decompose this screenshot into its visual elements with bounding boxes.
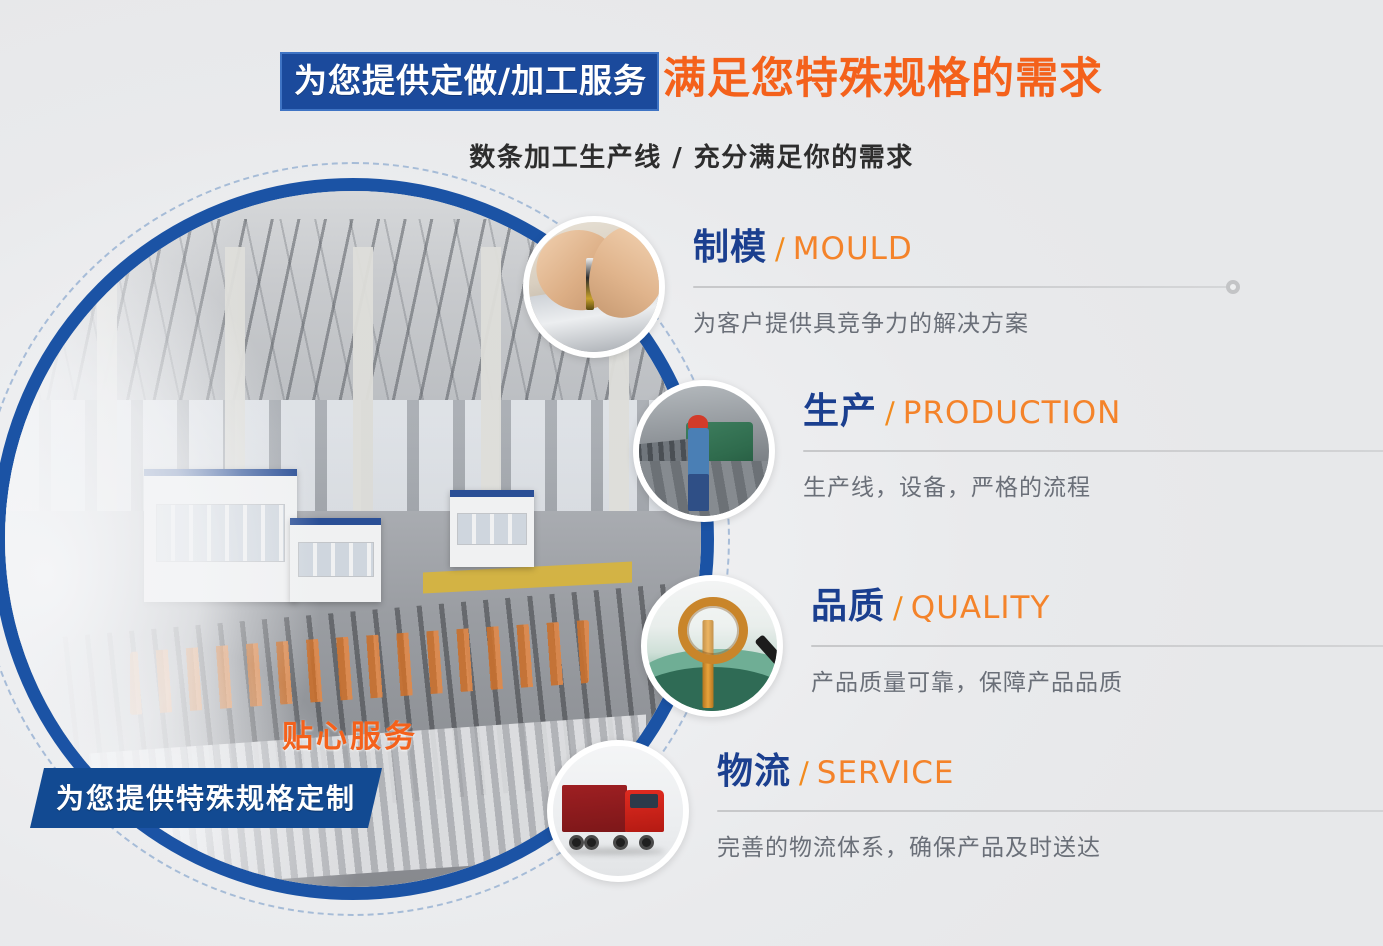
feature-title-en: SERVICE (817, 755, 955, 791)
feature-item-quality[interactable]: 品质/QUALITY 产品质量可靠，保障产品品质 (641, 575, 1383, 717)
feature-text: 制模/MOULD 为客户提供具竞争力的解决方案 (693, 216, 1233, 338)
feature-item-production[interactable]: 生产/PRODUCTION 生产线，设备，严格的流程 (633, 380, 1383, 522)
feature-description: 为客户提供具竞争力的解决方案 (693, 304, 1233, 338)
feature-title-cn: 制模 (693, 227, 767, 268)
feature-title-cn: 品质 (811, 586, 885, 627)
feature-item-service[interactable]: 物流/SERVICE 完善的物流体系，确保产品及时送达 (547, 740, 1383, 882)
header-badge: 为您提供定做/加工服务 (280, 52, 659, 111)
feature-title-en: QUALITY (911, 590, 1051, 626)
headline-row: 为您提供定做/加工服务 满足您特殊规格的需求 (0, 0, 1383, 111)
feature-divider (811, 645, 1383, 647)
feature-item-mould[interactable]: 制模/MOULD 为客户提供具竞争力的解决方案 (523, 216, 1233, 358)
feature-title-separator: / (885, 396, 895, 430)
service-truck-icon (547, 740, 689, 882)
feature-divider (717, 810, 1383, 812)
promo-banner: 为您提供定做/加工服务 满足您特殊规格的需求 数条加工生产线 / 充分满足你的需… (0, 0, 1383, 946)
feature-title-en: PRODUCTION (903, 395, 1122, 431)
feature-description: 生产线，设备，严格的流程 (803, 468, 1383, 502)
header-headline: 满足您特殊规格的需求 (663, 58, 1103, 101)
feature-title: 生产/PRODUCTION (803, 394, 1383, 430)
production-worker-icon (633, 380, 775, 522)
feature-title: 品质/QUALITY (811, 589, 1383, 625)
feature-text: 物流/SERVICE 完善的物流体系，确保产品及时送达 (717, 740, 1383, 862)
feature-title-separator: / (775, 232, 785, 266)
mould-hand-scriber-icon (523, 216, 665, 358)
photo-caption: 贴心服务 为您提供特殊规格定制 (160, 711, 540, 828)
feature-title-cn: 生产 (803, 391, 877, 432)
caption-banner: 为您提供特殊规格定制 (30, 768, 382, 828)
feature-title-separator: / (893, 591, 903, 625)
header: 为您提供定做/加工服务 满足您特殊规格的需求 数条加工生产线 / 充分满足你的需… (0, 0, 1383, 174)
header-subtitle: 数条加工生产线 / 充分满足你的需求 (0, 137, 1383, 174)
feature-text: 品质/QUALITY 产品质量可靠，保障产品品质 (811, 575, 1383, 697)
feature-title: 制模/MOULD (693, 230, 1233, 266)
quality-magnifier-icon (641, 575, 783, 717)
feature-title-cn: 物流 (717, 751, 791, 792)
feature-title: 物流/SERVICE (717, 754, 1383, 790)
caption-heading: 贴心服务 (160, 711, 540, 756)
feature-text: 生产/PRODUCTION 生产线，设备，严格的流程 (803, 380, 1383, 502)
feature-divider (693, 286, 1233, 288)
feature-description: 完善的物流体系，确保产品及时送达 (717, 828, 1383, 862)
feature-description: 产品质量可靠，保障产品品质 (811, 663, 1383, 697)
feature-title-separator: / (799, 756, 809, 790)
feature-divider (803, 450, 1383, 452)
feature-title-en: MOULD (793, 231, 913, 267)
